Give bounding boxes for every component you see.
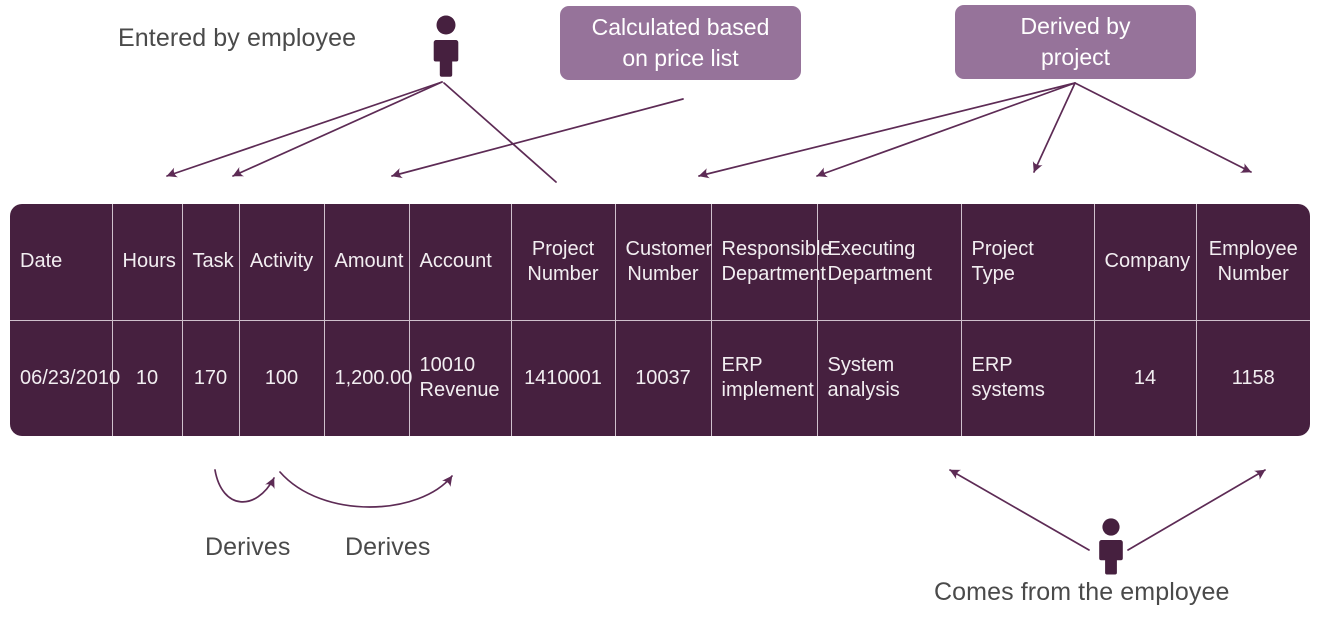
column-header-project-type: Project Type <box>961 204 1094 320</box>
cell-project-number: 1410001 <box>511 320 615 436</box>
column-header-executing-department: Executing Department <box>817 204 961 320</box>
column-header-task: Task <box>182 204 239 320</box>
callout-derived-by-project: Derived by project <box>955 5 1196 79</box>
table-header-row: Date Hours Task Activity Amount <box>10 204 1310 320</box>
connector-derived-to-project-type <box>1034 83 1075 172</box>
connector-bottom-employee-to-employee-number <box>1128 470 1265 550</box>
person-icon <box>431 15 461 82</box>
connector-employee-to-hours <box>233 82 442 176</box>
column-header-project-number: Project Number <box>511 204 615 320</box>
connector-employee-to-date <box>167 82 442 176</box>
cell-employee-number: 1158 <box>1196 320 1310 436</box>
cell-hours: 10 <box>112 320 182 436</box>
callout-calculated-line2: on price list <box>592 43 770 74</box>
transaction-table-grid: Date Hours Task Activity Amount <box>10 204 1310 436</box>
connector-derived-to-employee-number <box>1075 83 1251 172</box>
connector-bottom-employee-to-company <box>950 470 1089 550</box>
callout-derived-line1: Derived by <box>1021 11 1131 42</box>
cell-task: 170 <box>182 320 239 436</box>
connector-derives-curve-1 <box>215 470 274 502</box>
column-header-amount: Amount <box>324 204 409 320</box>
column-header-customer-number: Customer Number <box>615 204 711 320</box>
cell-project-type: ERP systems <box>961 320 1094 436</box>
derives-label-2: Derives <box>345 533 430 562</box>
column-header-responsible-department: Responsible Department <box>711 204 817 320</box>
callout-calculated-line1: Calculated based <box>592 12 770 43</box>
cell-customer-number: 10037 <box>615 320 711 436</box>
column-header-hours: Hours <box>112 204 182 320</box>
entered-by-employee-label: Entered by employee <box>118 24 356 53</box>
connector-calculated-to-amount <box>392 99 683 176</box>
cell-company: 14 <box>1094 320 1196 436</box>
cell-responsible-department: ERP implement <box>711 320 817 436</box>
cell-account: 10010 Revenue <box>409 320 511 436</box>
connector-derived-to-executing-department <box>817 83 1075 176</box>
column-header-company: Company <box>1094 204 1196 320</box>
derives-label-1: Derives <box>205 533 290 562</box>
connector-employee-to-activity <box>444 83 556 182</box>
callout-derived-line2: project <box>1021 42 1131 73</box>
transaction-table: Date Hours Task Activity Amount <box>10 204 1310 436</box>
connector-derived-to-responsible-department <box>699 83 1075 176</box>
column-header-employee-number: Employee Number <box>1196 204 1310 320</box>
cell-date: 06/23/2010 <box>10 320 112 436</box>
comes-from-the-employee-label: Comes from the employee <box>934 578 1229 607</box>
cell-executing-department: System analysis <box>817 320 961 436</box>
column-header-activity: Activity <box>239 204 324 320</box>
person-icon <box>1096 518 1126 581</box>
cell-amount: 1,200.00 <box>324 320 409 436</box>
table-row: 06/23/2010 10 170 100 1,200.00 10010 Rev… <box>10 320 1310 436</box>
column-header-date: Date <box>10 204 112 320</box>
column-header-account: Account <box>409 204 511 320</box>
diagram-canvas: Entered by employee Calculated based on … <box>0 0 1320 623</box>
callout-calculated-based-on-price-list: Calculated based on price list <box>560 6 801 80</box>
cell-activity: 100 <box>239 320 324 436</box>
connector-derives-curve-2 <box>280 472 452 507</box>
